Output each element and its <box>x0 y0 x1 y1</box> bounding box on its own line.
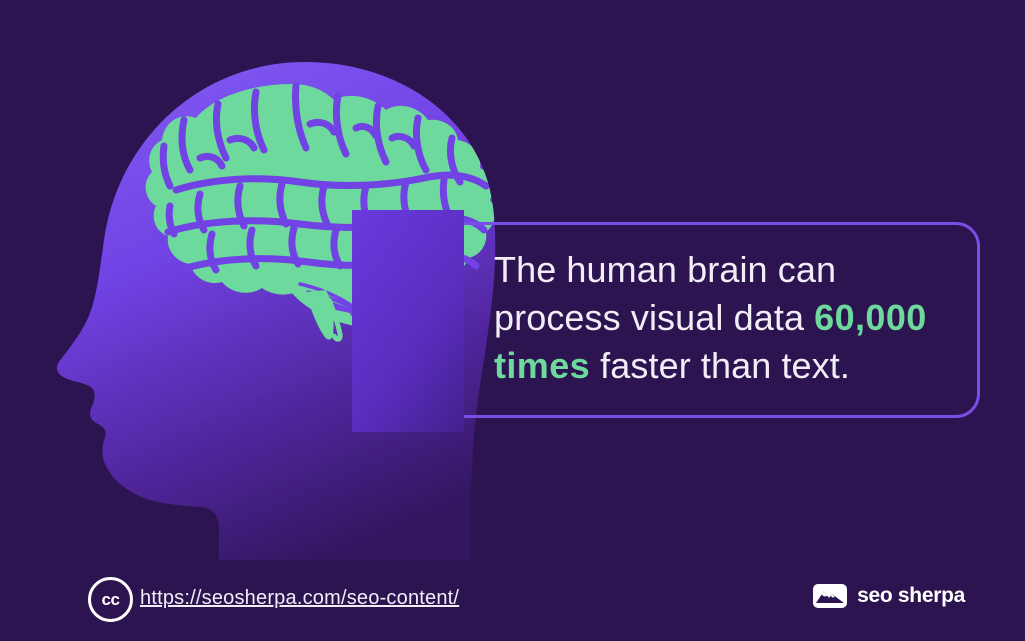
footer-bar: cc https://seosherpa.com/seo-content/ se… <box>0 559 1025 641</box>
source-url-link[interactable]: https://seosherpa.com/seo-content/ <box>140 587 459 610</box>
mountain-peaks-icon <box>813 584 847 608</box>
creative-commons-icon: cc <box>88 577 133 622</box>
brand-logo[interactable]: seo sherpa <box>813 584 965 608</box>
quote-text: The human brain can process visual data … <box>494 246 952 390</box>
quote-part-1: The human brain can process visual data <box>494 249 836 338</box>
head-overlap-mask <box>352 210 464 432</box>
creative-commons-label: cc <box>102 590 120 610</box>
quote-part-2: faster than text. <box>590 345 850 386</box>
infographic-canvas: The human brain can process visual data … <box>0 0 1025 641</box>
brand-name: seo sherpa <box>857 584 965 608</box>
